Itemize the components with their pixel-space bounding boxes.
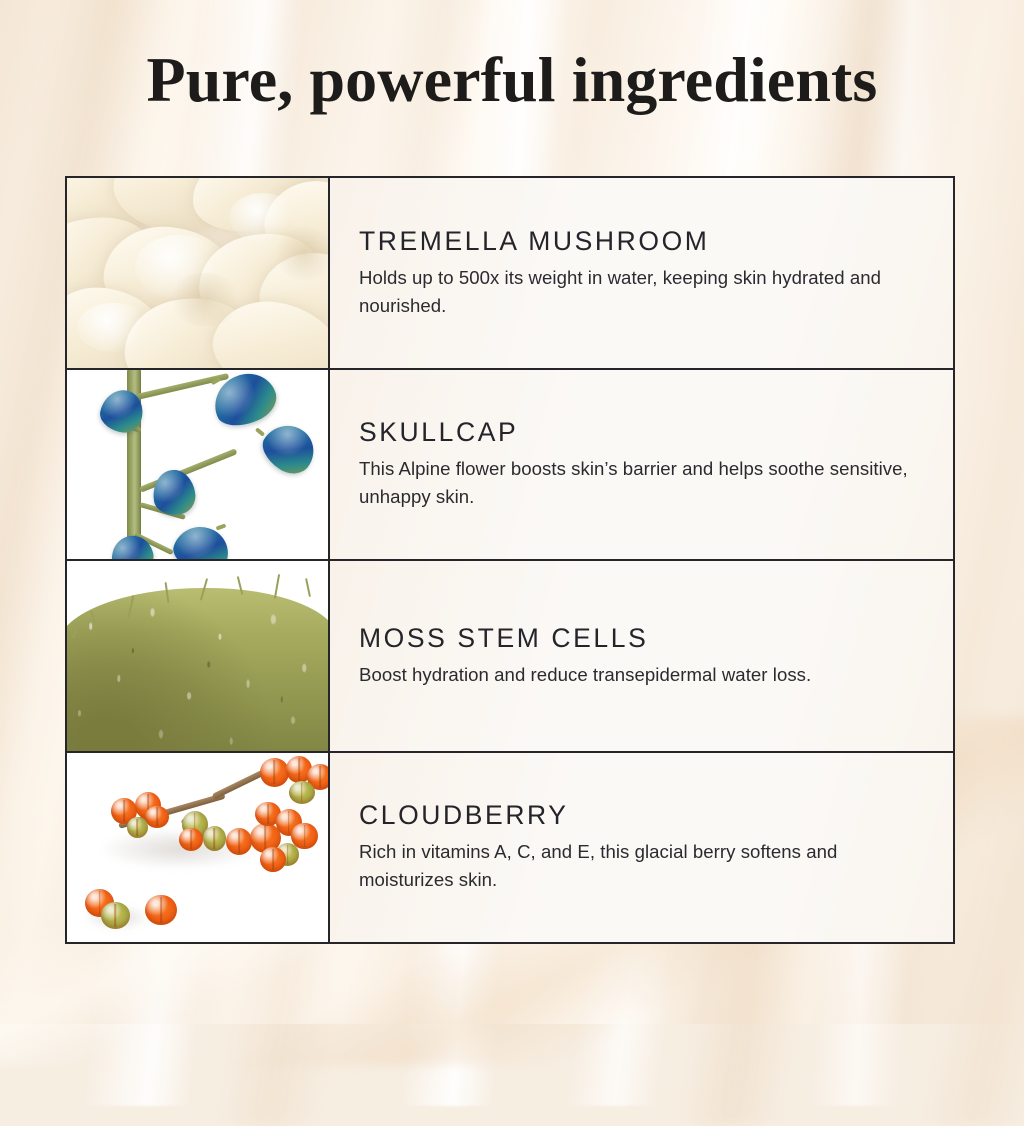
bud-tip: [255, 427, 265, 436]
mushroom-shadow: [166, 273, 244, 326]
ingredient-description: Boost hydration and reduce transepiderma…: [359, 661, 919, 689]
ingredients-table: TREMELLA MUSHROOM Holds up to 500x its w…: [65, 176, 955, 944]
berry: [179, 828, 202, 851]
page-title: Pure, powerful ingredients: [0, 48, 1024, 112]
moss-stem-cells-photo: [67, 561, 330, 751]
berry: [260, 758, 289, 786]
ingredient-name: MOSS STEM CELLS: [359, 623, 927, 654]
table-row: TREMELLA MUSHROOM Holds up to 500x its w…: [67, 178, 953, 370]
berry-green: [127, 817, 148, 838]
berry: [260, 847, 286, 872]
flower-bud: [107, 532, 157, 559]
ingredient-text-cell: MOSS STEM CELLS Boost hydration and redu…: [330, 561, 953, 751]
cloudberry-photo: [67, 753, 330, 943]
ingredient-description: This Alpine flower boosts skin’s barrier…: [359, 455, 919, 512]
berry: [226, 828, 252, 855]
moss-texture: [67, 588, 330, 751]
ingredient-name: CLOUDBERRY: [359, 800, 927, 831]
berry-green: [203, 826, 226, 851]
table-row: CLOUDBERRY Rich in vitamins A, C, and E,…: [67, 753, 953, 943]
tremella-mushroom-photo: [67, 178, 330, 368]
ingredient-description: Holds up to 500x its weight in water, ke…: [359, 264, 919, 321]
ingredient-text-cell: TREMELLA MUSHROOM Holds up to 500x its w…: [330, 178, 953, 368]
moss-mass: [67, 588, 330, 751]
ingredient-description: Rich in vitamins A, C, and E, this glaci…: [359, 838, 919, 895]
ingredient-name: TREMELLA MUSHROOM: [359, 226, 927, 257]
ingredient-text-cell: CLOUDBERRY Rich in vitamins A, C, and E,…: [330, 753, 953, 943]
table-row: MOSS STEM CELLS Boost hydration and redu…: [67, 561, 953, 753]
table-row: SKULLCAP This Alpine flower boosts skin’…: [67, 370, 953, 562]
berry-green: [101, 902, 130, 929]
ingredient-name: SKULLCAP: [359, 417, 927, 448]
ingredient-text-cell: SKULLCAP This Alpine flower boosts skin’…: [330, 370, 953, 560]
bud-tip: [215, 523, 226, 530]
skullcap-flower-photo: [67, 370, 330, 560]
berry: [145, 895, 176, 925]
berry-green: [289, 781, 315, 804]
mushroom-highlight: [77, 303, 150, 352]
berry: [145, 806, 168, 829]
flower-bud: [254, 416, 323, 483]
